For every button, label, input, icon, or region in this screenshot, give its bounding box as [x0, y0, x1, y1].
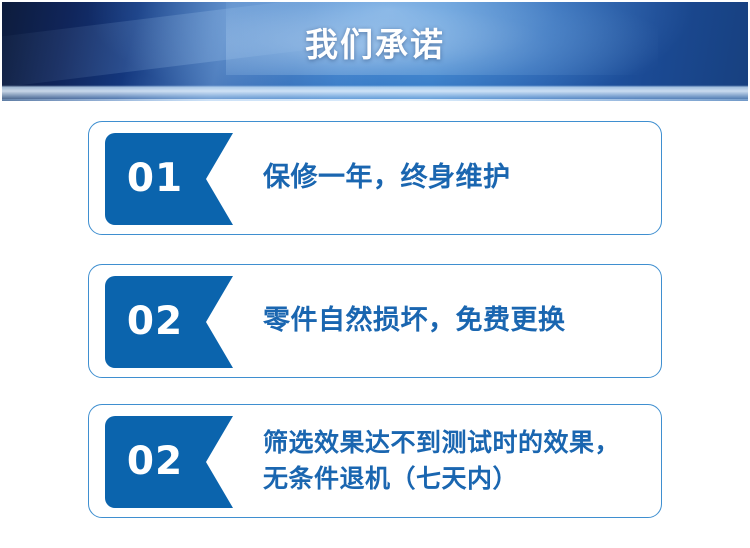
promise-card-3: 02 筛选效果达不到测试时的效果， 无条件退机（七天内） [88, 404, 662, 518]
card-text-line: 零件自然损坏，免费更换 [263, 303, 651, 339]
card-text: 筛选效果达不到测试时的效果， 无条件退机（七天内） [263, 405, 651, 517]
card-badge-number: 02 [105, 276, 205, 368]
promise-card-1: 01 保修一年，终身维护 [88, 121, 662, 235]
ribbon-flag-icon: 02 [105, 276, 233, 368]
ribbon-flag-icon: 01 [105, 133, 233, 225]
header-banner: 我们承诺 [2, 2, 748, 101]
card-badge-number: 02 [105, 416, 205, 508]
card-text-line: 无条件退机（七天内） [263, 461, 651, 497]
card-text-line: 筛选效果达不到测试时的效果， [263, 425, 651, 461]
ribbon-flag-icon: 02 [105, 416, 233, 508]
card-text: 零件自然损坏，免费更换 [263, 265, 651, 377]
banner-highlight-line [2, 99, 748, 101]
promise-page: 我们承诺 01 保修一年，终身维护 02 零件自然损坏，免费更换 [0, 0, 750, 548]
card-text: 保修一年，终身维护 [263, 122, 651, 234]
card-badge-number: 01 [105, 133, 205, 225]
promise-card-2: 02 零件自然损坏，免费更换 [88, 264, 662, 378]
page-title: 我们承诺 [2, 2, 748, 88]
card-text-line: 保修一年，终身维护 [263, 160, 651, 196]
